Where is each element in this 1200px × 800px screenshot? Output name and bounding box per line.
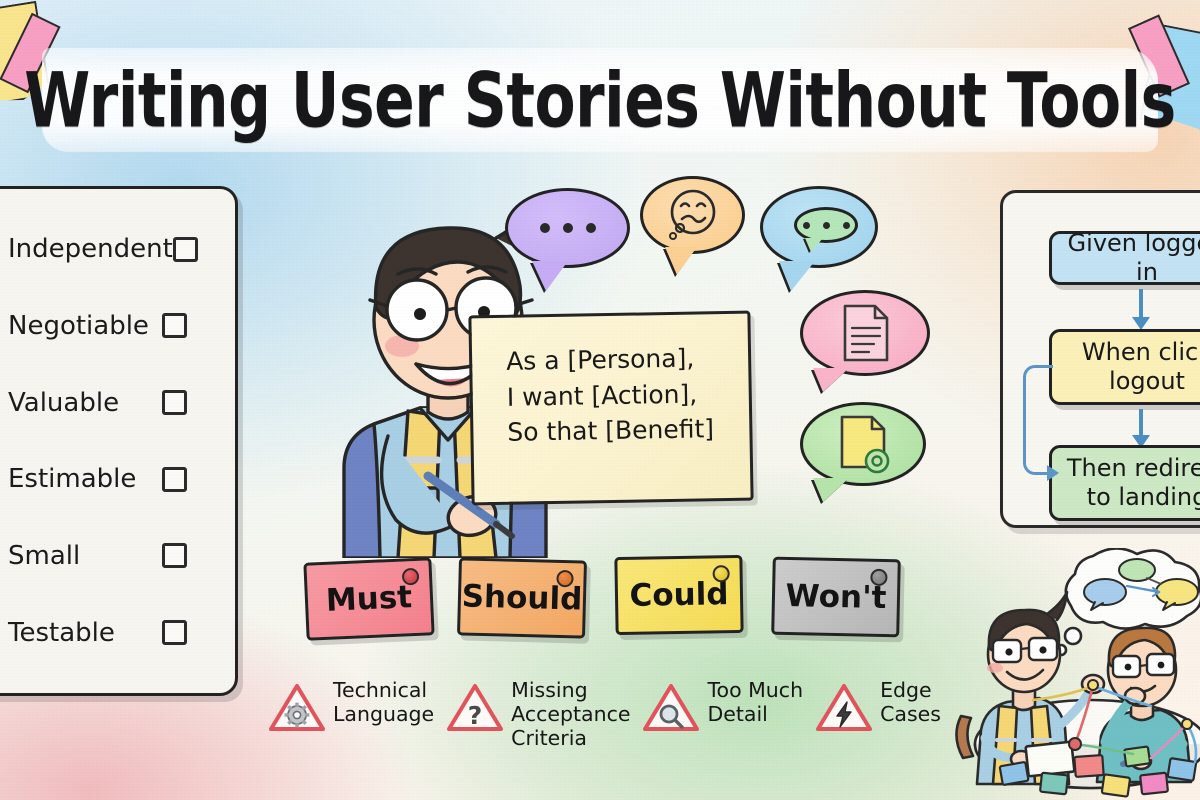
checkbox[interactable] bbox=[162, 620, 187, 645]
priority-card-must[interactable]: Must bbox=[303, 557, 434, 641]
pitfall-label: Missing Acceptance Criteria bbox=[511, 679, 630, 750]
list-item-label: Valuable bbox=[8, 388, 162, 418]
checkbox[interactable] bbox=[162, 390, 187, 415]
pitfall-item-edge-cases: Edge Cases bbox=[815, 672, 941, 734]
pitfall-item-missing-acceptance-criteria: ? Missing Acceptance Criteria bbox=[446, 672, 630, 750]
thinking-face-icon bbox=[662, 188, 724, 242]
list-item[interactable]: Negotiable bbox=[0, 295, 235, 357]
pin-dot-icon bbox=[402, 568, 420, 586]
list-item-label: Testable bbox=[8, 618, 162, 648]
priority-card-should[interactable]: Should bbox=[457, 557, 587, 638]
pitfall-item-technical-language: Technical Language bbox=[268, 672, 434, 734]
invest-list: Independent Negotiable Valuable Estimabl… bbox=[0, 189, 235, 693]
priority-card-could[interactable]: Could bbox=[614, 555, 743, 635]
arrow-right-icon bbox=[1047, 465, 1059, 481]
ellipsis-bubble bbox=[505, 188, 630, 268]
list-item-label: Small bbox=[8, 541, 162, 571]
question-mark-icon: ? bbox=[468, 701, 483, 730]
priority-card-label: Must bbox=[325, 579, 413, 619]
ellipsis-icon bbox=[803, 222, 850, 229]
priority-card-label: Won't bbox=[785, 578, 886, 616]
checkbox[interactable] bbox=[162, 467, 187, 492]
ellipsis-icon bbox=[540, 223, 596, 233]
document-icon bbox=[837, 302, 893, 364]
list-item-label: Independent bbox=[8, 234, 173, 264]
list-item[interactable]: Small bbox=[0, 525, 235, 587]
story-line: As a [Persona], bbox=[506, 340, 735, 379]
list-item[interactable]: Testable bbox=[0, 602, 235, 664]
team-workshop-illustration bbox=[955, 548, 1200, 800]
warning-triangle bbox=[268, 682, 326, 734]
pitfall-label: Technical Language bbox=[333, 679, 434, 727]
story-line: So that [Benefit] bbox=[507, 411, 736, 450]
list-item[interactable]: Valuable bbox=[0, 372, 235, 434]
page-title: Writing User Stories Without Tools bbox=[24, 56, 1176, 144]
list-item[interactable]: Independent bbox=[0, 218, 235, 280]
pitfall-label: Edge Cases bbox=[880, 679, 941, 727]
warning-triangle bbox=[815, 682, 873, 734]
list-item-label: Negotiable bbox=[8, 311, 162, 341]
list-item-label: Estimable bbox=[8, 464, 162, 494]
poster-canvas: Writing User Stories Without Tools Indep… bbox=[0, 0, 1200, 800]
checkbox[interactable] bbox=[173, 237, 198, 262]
svg-text:?: ? bbox=[468, 701, 483, 730]
conversation-bubble bbox=[760, 186, 878, 268]
checkbox[interactable] bbox=[162, 543, 187, 568]
thinking-face-bubble bbox=[640, 176, 745, 254]
title-banner: Writing User Stories Without Tools bbox=[42, 48, 1158, 152]
document-seal-icon bbox=[834, 413, 892, 475]
document-bubble bbox=[800, 290, 930, 376]
user-story-template-card: As a [Persona], I want [Action], So that… bbox=[468, 311, 753, 506]
arrow-down-icon bbox=[1139, 289, 1143, 319]
gear-icon bbox=[285, 703, 310, 728]
warning-triangle: ? bbox=[446, 682, 504, 734]
invest-criteria-checklist: Independent Negotiable Valuable Estimabl… bbox=[0, 186, 238, 696]
flow-step-when[interactable]: When click logout bbox=[1049, 329, 1200, 405]
nested-bubble-icon bbox=[794, 207, 858, 243]
arrow-down-icon bbox=[1139, 409, 1143, 437]
common-pitfalls: Technical Language ? Missing Acceptance … bbox=[268, 672, 958, 764]
list-item[interactable]: Estimable bbox=[0, 448, 235, 510]
approved-document-bubble bbox=[800, 402, 926, 486]
priority-card-wont[interactable]: Won't bbox=[771, 557, 901, 638]
acceptance-criteria-flow: Given logged in When click logout Then r… bbox=[1000, 190, 1200, 528]
pitfall-label: Too Much Detail bbox=[707, 679, 803, 727]
pitfall-item-too-much-detail: Too Much Detail bbox=[642, 672, 803, 734]
checkbox[interactable] bbox=[162, 313, 187, 338]
feedback-loop-connector bbox=[1023, 365, 1053, 475]
story-line: I want [Action], bbox=[506, 375, 735, 414]
flow-step-given[interactable]: Given logged in bbox=[1049, 231, 1200, 285]
priority-card-label: Could bbox=[629, 576, 729, 614]
warning-triangle bbox=[642, 682, 700, 734]
flow-step-then[interactable]: Then redirect to landing bbox=[1049, 445, 1200, 521]
